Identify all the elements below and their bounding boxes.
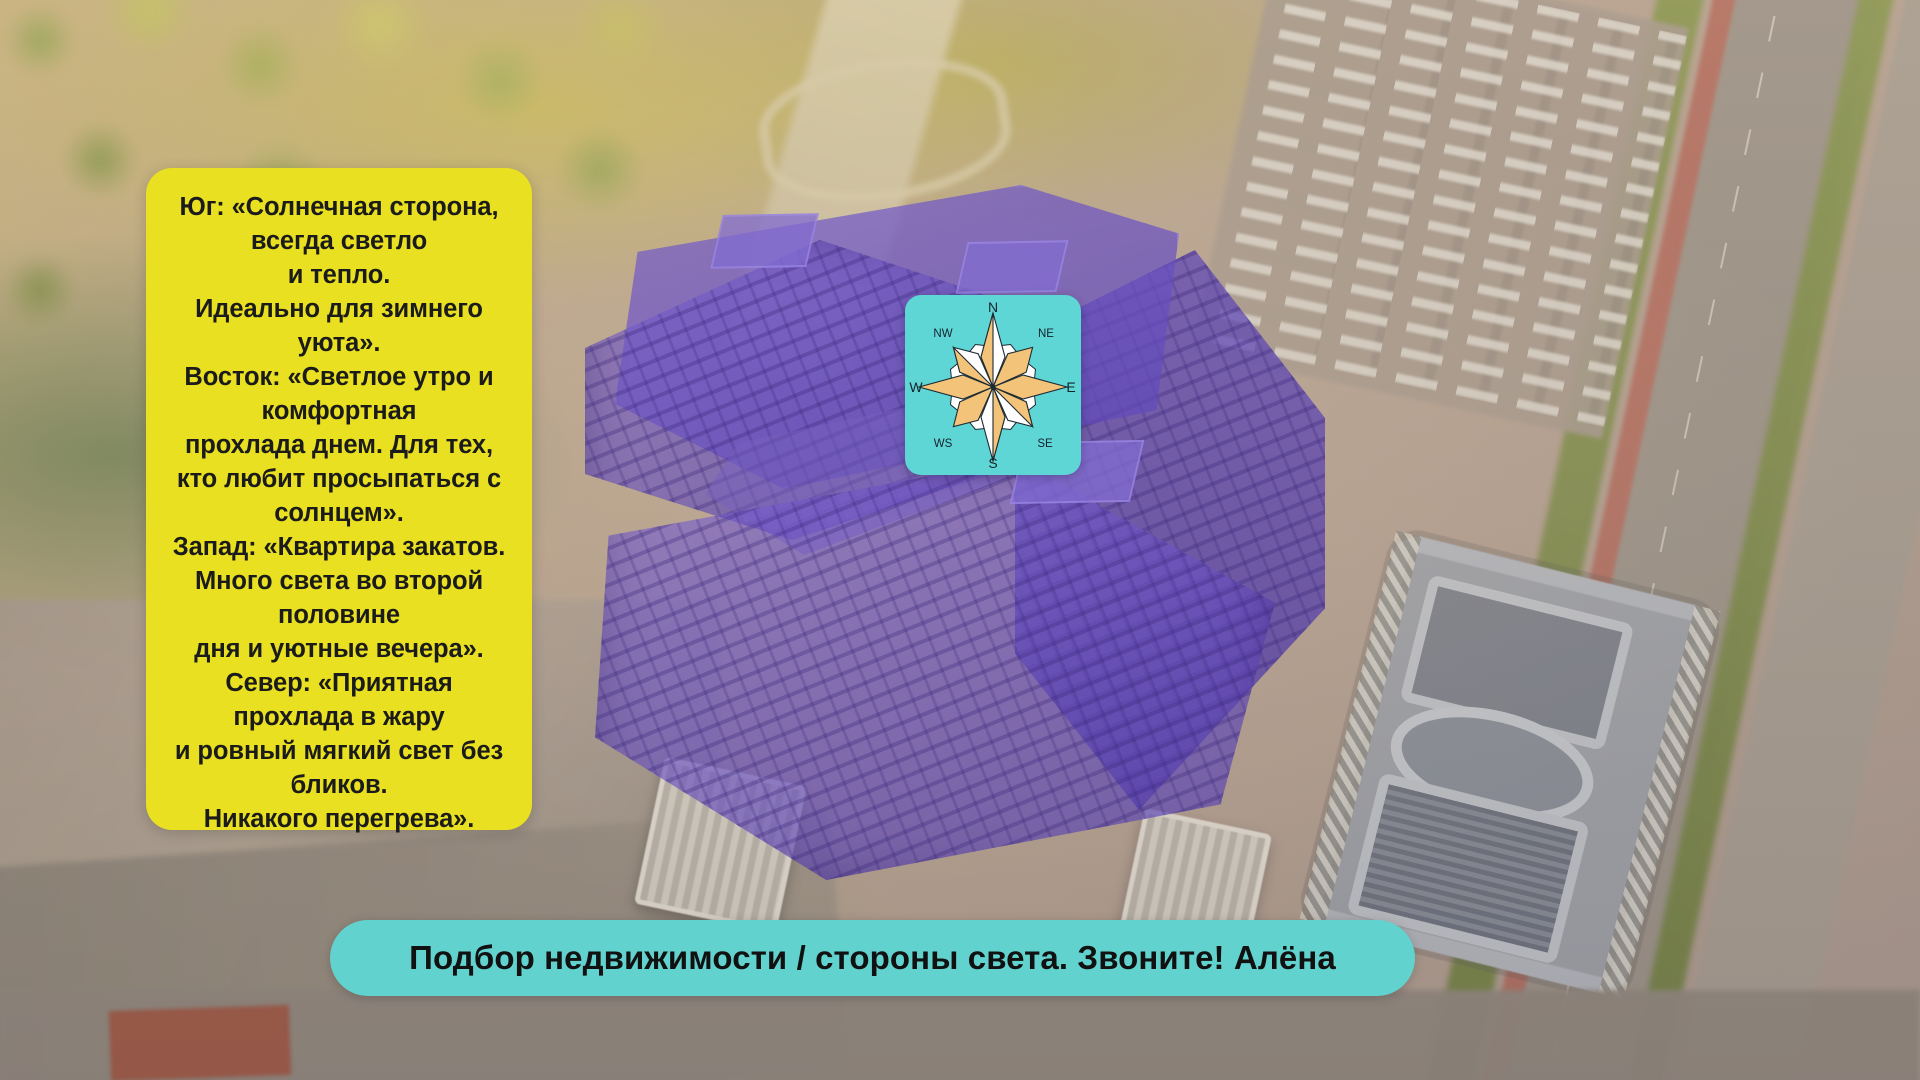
compass-label-ne: NE (1038, 328, 1054, 340)
highlighted-residential-complex (585, 180, 1325, 880)
orientation-info-card: Юг: «Солнечная сторона, всегда светло и … (146, 168, 532, 830)
advertisement-canvas: Юг: «Солнечная сторона, всегда светло и … (0, 0, 1920, 1080)
compass-label-se: SE (1037, 438, 1053, 450)
compass-label-ws: WS (934, 438, 953, 450)
roof-penthouse-1 (710, 213, 819, 269)
red-roof-building (109, 1005, 291, 1080)
compass-label-nw: NW (933, 328, 952, 340)
contact-banner[interactable]: Подбор недвижимости / стороны света. Зво… (330, 920, 1415, 996)
compass-label-n: N (988, 299, 998, 315)
compass-label-e: E (1066, 379, 1075, 395)
compass-label-w: W (909, 379, 923, 395)
compass-rose-icon: N NE E SE S WS W NW (905, 295, 1081, 475)
compass-label-s: S (988, 455, 997, 471)
compass-rose-card: N NE E SE S WS W NW (905, 295, 1081, 475)
orientation-info-text: Юг: «Солнечная сторона, всегда светло и … (173, 190, 505, 836)
contact-banner-text: Подбор недвижимости / стороны света. Зво… (409, 939, 1336, 977)
roof-penthouse-2 (955, 240, 1068, 294)
